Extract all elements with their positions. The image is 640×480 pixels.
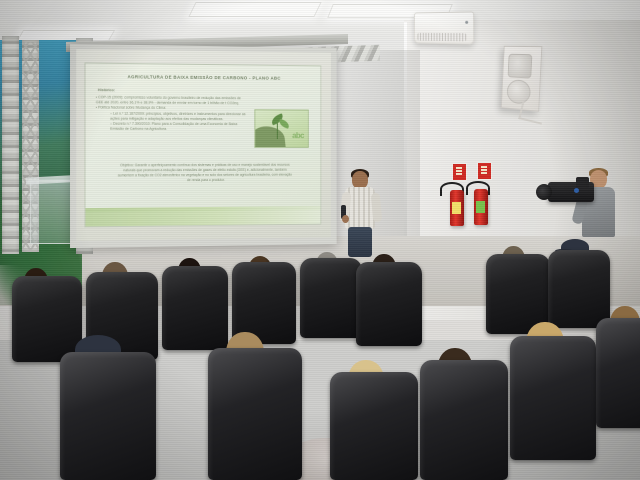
ac-led-icon [465,21,468,24]
slide-title: AGRICULTURA DE BAIXA EMISSÃO DE CARBONO … [100,74,307,82]
fire-extinguisher-icon [474,189,488,225]
projection-screen: AGRICULTURA DE BAIXA EMISSÃO DE CARBONO … [70,44,337,248]
air-conditioner-icon [414,11,474,44]
photo-scene: AGRICULTURA DE BAIXA EMISSÃO DE CARBONO … [0,0,640,480]
slide-objective-text: Garantir o aperfeiçoamento contínuo dos … [118,163,292,182]
ceiling-light-icon [188,2,321,17]
extinguisher-label [476,201,485,213]
camera-badge [574,188,579,193]
presentation-slide: AGRICULTURA DE BAIXA EMISSÃO DE CARBONO … [84,63,321,228]
slide-image-caption: abc [292,131,304,140]
leaf-icon [278,119,290,129]
auditorium-seat [208,348,302,480]
slide-objective-label: Objetivo: [120,163,134,167]
slide-image-seedling: abc [254,109,308,148]
ac-vent [418,33,467,42]
auditorium-seat [60,352,156,480]
auditorium-seat [300,258,362,338]
slide-bullet-list: • COP-15 (2009): compromisso voluntário … [96,95,247,132]
auditorium-seat [330,372,418,480]
auditorium-seat [356,262,422,346]
stem-shape [277,122,278,139]
fire-extinguisher-sign-icon [452,163,467,181]
auditorium-seat [510,336,596,460]
auditorium-seat [162,266,228,350]
aluminum-truss [2,36,19,254]
camera-lens-icon [536,184,552,200]
speaker-tweeter [508,54,533,79]
fire-extinguisher-icon [450,190,464,226]
slide-accent-band [86,206,321,226]
slide-subheading: Histórico: [98,88,115,92]
camera-viewfinder [576,177,589,188]
presenter-hand [342,215,349,223]
fire-extinguisher-sign-icon [477,162,492,180]
extinguisher-label [452,202,461,214]
auditorium-seat [596,318,640,428]
auditorium-seat [420,360,508,480]
auditorium-seat [548,250,610,328]
speaker-woofer [506,79,531,105]
slide-bullet: – Decreto n.º 7.390/2010: Plano para a C… [96,122,247,133]
video-camera-icon [548,182,594,202]
slide-bullet: – Lei n.º 12.187/2009: princípios, objet… [96,111,247,122]
hill-shape [254,125,285,148]
slide-objective: Objetivo: Garantir o aperfeiçoamento con… [116,163,293,183]
presenter [340,171,380,257]
